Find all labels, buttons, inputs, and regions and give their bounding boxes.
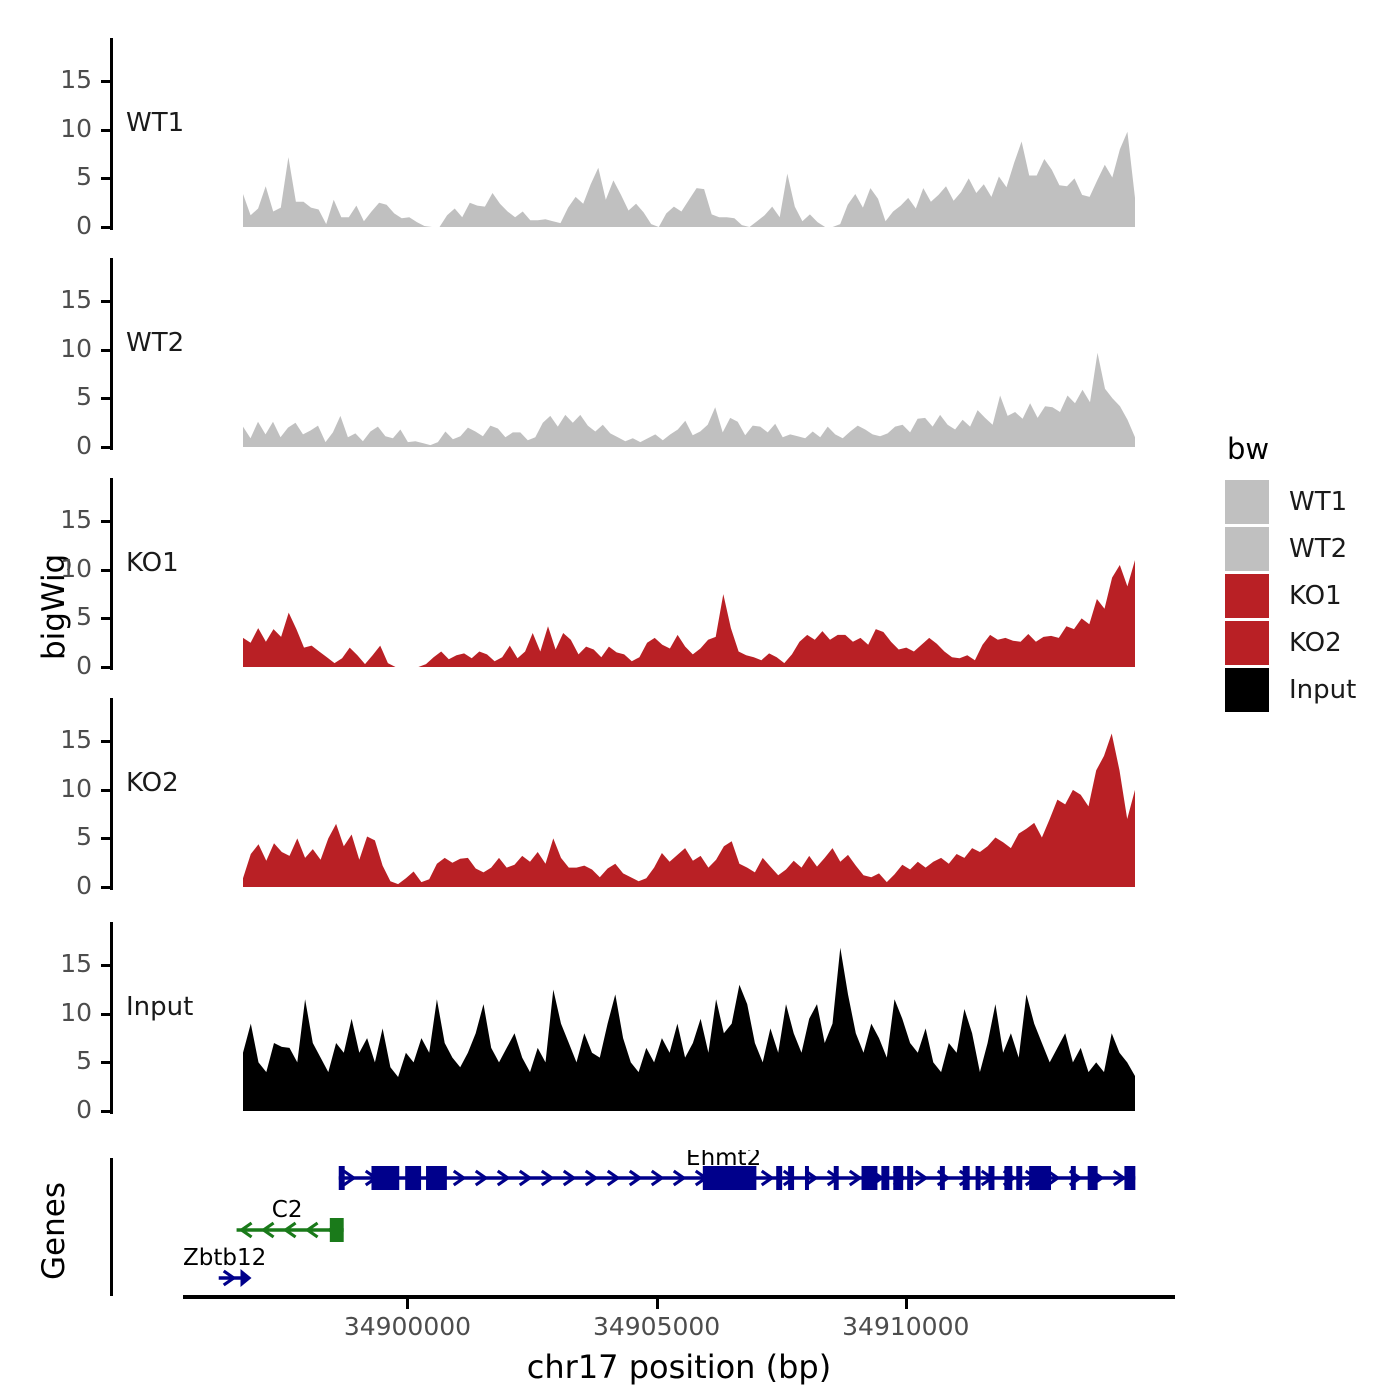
gene-exon[interactable] xyxy=(1071,1166,1076,1190)
y-tick-wt1-5 xyxy=(101,177,110,180)
y-tick-ko1-5 xyxy=(101,617,110,620)
gene-label-ehmt2: Ehmt2 xyxy=(686,1150,761,1171)
y-axis-ko2 xyxy=(110,698,113,890)
legend-label-ko2: KO2 xyxy=(1289,628,1342,658)
gene-exon[interactable] xyxy=(405,1166,421,1190)
y-tick-label-input-0: 0 xyxy=(12,1097,92,1122)
track-panel-ko2[interactable] xyxy=(183,698,1175,890)
y-tick-input-10 xyxy=(101,1013,110,1016)
legend-item-input[interactable]: Input xyxy=(1225,668,1356,712)
y-tick-ko2-10 xyxy=(101,789,110,792)
track-label-wt2: WT2 xyxy=(126,328,184,358)
y-tick-input-0 xyxy=(101,1110,110,1113)
y-tick-wt2-15 xyxy=(101,300,110,303)
gene-exon[interactable] xyxy=(834,1166,839,1190)
gene-exon[interactable] xyxy=(805,1166,809,1190)
track-panel-input[interactable] xyxy=(183,922,1175,1114)
x-axis-title: chr17 position (bp) xyxy=(183,1348,1175,1386)
y-tick-label-input-10: 10 xyxy=(12,1000,92,1025)
track-label-wt1: WT1 xyxy=(126,108,184,138)
gene-label-zbtb12: Zbtb12 xyxy=(183,1245,266,1271)
y-tick-ko1-15 xyxy=(101,520,110,523)
gene-track-axis xyxy=(110,1158,113,1296)
gene-exon[interactable] xyxy=(1124,1166,1135,1190)
gene-exon[interactable] xyxy=(339,1166,345,1190)
legend: bw WT1WT2KO1KO2Input xyxy=(1225,432,1356,715)
y-tick-ko1-0 xyxy=(101,666,110,669)
gene-exon[interactable] xyxy=(940,1166,945,1190)
legend-label-wt1: WT1 xyxy=(1289,487,1347,517)
legend-item-wt2[interactable]: WT2 xyxy=(1225,527,1356,571)
x-tick-label-1: 34905000 xyxy=(547,1312,767,1341)
gene-exon[interactable] xyxy=(893,1166,903,1190)
gene-exon[interactable] xyxy=(330,1218,344,1242)
y-tick-ko2-0 xyxy=(101,886,110,889)
gene-exon[interactable] xyxy=(1029,1166,1051,1190)
y-axis-wt2 xyxy=(110,258,113,450)
y-tick-label-wt1-15: 15 xyxy=(12,67,92,92)
x-tick-1 xyxy=(656,1299,659,1309)
gene-exon[interactable] xyxy=(371,1166,399,1190)
y-axis-input xyxy=(110,922,113,1114)
y-tick-label-ko1-15: 15 xyxy=(12,507,92,532)
y-tick-label-wt1-0: 0 xyxy=(12,213,92,238)
x-axis-line xyxy=(183,1295,1175,1299)
y-tick-input-5 xyxy=(101,1061,110,1064)
y-axis-title-genes: Genes xyxy=(36,1182,72,1280)
y-tick-label-ko1-10: 10 xyxy=(12,556,92,581)
legend-title: bw xyxy=(1227,432,1356,466)
y-tick-ko2-5 xyxy=(101,837,110,840)
gene-strand-arrow-icon xyxy=(241,1269,252,1287)
y-tick-label-ko2-5: 5 xyxy=(12,824,92,849)
gene-exon[interactable] xyxy=(862,1166,878,1190)
gene-exon[interactable] xyxy=(881,1166,889,1190)
legend-swatch-input xyxy=(1225,668,1269,712)
gene-label-c2: C2 xyxy=(272,1197,303,1223)
legend-label-input: Input xyxy=(1289,675,1356,705)
x-tick-2 xyxy=(905,1299,908,1309)
y-tick-ko2-15 xyxy=(101,740,110,743)
track-label-ko1: KO1 xyxy=(126,548,179,578)
gene-exon[interactable] xyxy=(976,1166,981,1190)
y-tick-label-input-5: 5 xyxy=(12,1048,92,1073)
y-tick-label-input-15: 15 xyxy=(12,951,92,976)
y-tick-wt2-5 xyxy=(101,397,110,400)
x-tick-0 xyxy=(406,1299,409,1309)
track-panel-wt1[interactable] xyxy=(183,38,1175,230)
track-label-ko2: KO2 xyxy=(126,768,179,798)
gene-exon[interactable] xyxy=(1004,1166,1012,1190)
y-tick-label-wt2-0: 0 xyxy=(12,433,92,458)
y-axis-ko1 xyxy=(110,478,113,670)
gene-exon[interactable] xyxy=(989,1166,995,1190)
legend-swatch-wt2 xyxy=(1225,527,1269,571)
legend-swatch-wt1 xyxy=(1225,480,1269,524)
y-tick-label-ko2-15: 15 xyxy=(12,727,92,752)
y-tick-input-15 xyxy=(101,964,110,967)
legend-item-ko2[interactable]: KO2 xyxy=(1225,621,1356,665)
legend-swatch-ko2 xyxy=(1225,621,1269,665)
y-tick-wt2-10 xyxy=(101,349,110,352)
y-tick-wt1-15 xyxy=(101,80,110,83)
legend-item-ko1[interactable]: KO1 xyxy=(1225,574,1356,618)
y-tick-label-wt1-10: 10 xyxy=(12,116,92,141)
y-axis-wt1 xyxy=(110,38,113,230)
gene-exon[interactable] xyxy=(907,1166,913,1190)
x-tick-label-2: 34910000 xyxy=(796,1312,1016,1341)
y-tick-label-wt2-15: 15 xyxy=(12,287,92,312)
y-tick-label-ko1-0: 0 xyxy=(12,653,92,678)
gene-exon[interactable] xyxy=(788,1166,794,1190)
y-tick-label-ko1-5: 5 xyxy=(12,604,92,629)
y-tick-label-ko2-10: 10 xyxy=(12,776,92,801)
gene-exon[interactable] xyxy=(776,1166,782,1190)
y-tick-label-wt2-5: 5 xyxy=(12,384,92,409)
track-panel-wt2[interactable] xyxy=(183,258,1175,450)
gene-exon[interactable] xyxy=(1088,1166,1098,1190)
gene-exon[interactable] xyxy=(426,1166,447,1190)
legend-label-ko1: KO1 xyxy=(1289,581,1342,611)
y-tick-wt1-0 xyxy=(101,226,110,229)
y-tick-label-ko2-0: 0 xyxy=(12,873,92,898)
y-tick-wt1-10 xyxy=(101,129,110,132)
legend-items: WT1WT2KO1KO2Input xyxy=(1225,480,1356,712)
legend-item-wt1[interactable]: WT1 xyxy=(1225,480,1356,524)
gene-exon[interactable] xyxy=(963,1166,970,1190)
legend-swatch-ko1 xyxy=(1225,574,1269,618)
y-tick-label-wt2-10: 10 xyxy=(12,336,92,361)
gene-track-panel[interactable]: Ehmt2C2Zbtb12 xyxy=(183,1150,1175,1300)
y-tick-wt2-0 xyxy=(101,446,110,449)
x-tick-label-0: 34900000 xyxy=(297,1312,517,1341)
y-tick-ko1-10 xyxy=(101,569,110,572)
gene-exon[interactable] xyxy=(1016,1166,1022,1190)
track-panel-ko1[interactable] xyxy=(183,478,1175,670)
y-tick-label-wt1-5: 5 xyxy=(12,164,92,189)
legend-label-wt2: WT2 xyxy=(1289,534,1347,564)
